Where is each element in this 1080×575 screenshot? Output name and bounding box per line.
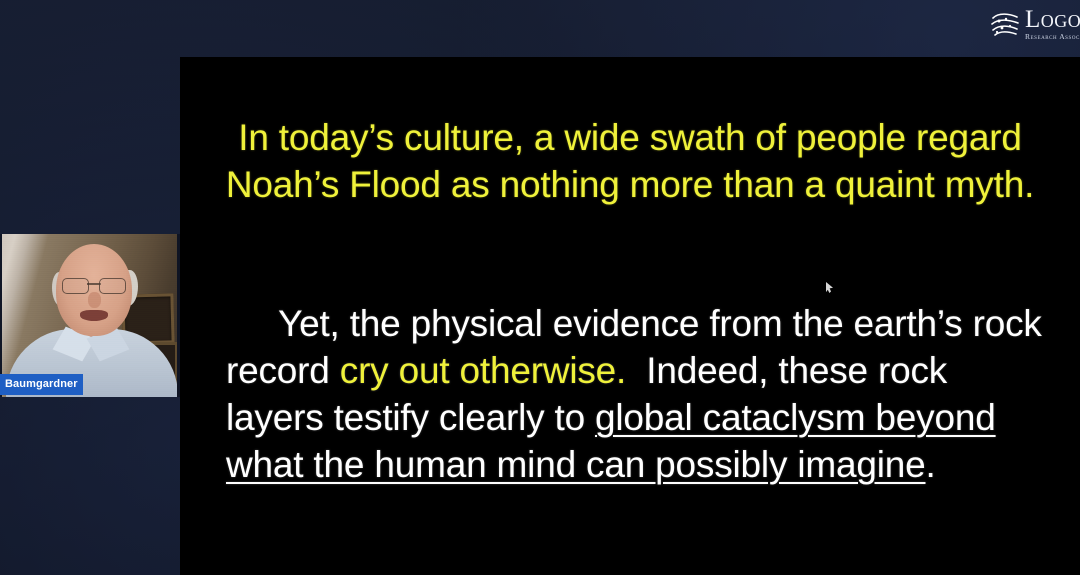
- text-run-underlined: what the human mind can possibly imagine: [226, 444, 926, 485]
- text-run-underlined: global cataclysm beyond: [595, 397, 996, 438]
- brand-logo: Logos Research Associates: [990, 4, 1080, 44]
- eyeglass-lens-right: [99, 278, 126, 294]
- slide-content: In today’s culture, a wide swath of peop…: [180, 57, 1080, 575]
- swirl-emblem-icon: [990, 9, 1020, 39]
- text-run-highlight: cry out otherwise.: [340, 350, 626, 391]
- slide-paragraph-body: Yet, the physical evidence from the eart…: [226, 300, 1046, 488]
- mouse-pointer-icon: [826, 282, 833, 293]
- participant-nose: [88, 292, 101, 308]
- participant-name-tag: Baumgardner: [0, 374, 83, 395]
- video-scene: [0, 234, 180, 397]
- slide-body-line: record cry out otherwise. Indeed, these …: [226, 347, 1046, 394]
- brand-wordmark: Logos: [1025, 8, 1080, 32]
- brand-tagline: Research Associates: [1025, 32, 1080, 41]
- shared-slide[interactable]: In today’s culture, a wide swath of peop…: [180, 57, 1080, 575]
- text-run: .: [926, 444, 936, 485]
- slide-body-line: Yet, the physical evidence from the eart…: [226, 300, 1046, 347]
- brand-lockup: Logos Research Associates: [1025, 7, 1080, 41]
- eyeglasses-icon: [62, 278, 126, 293]
- slide-body-line: layers testify clearly to global catacly…: [226, 394, 1046, 441]
- text-run: layers testify clearly to: [226, 397, 595, 438]
- slide-body-line: what the human mind can possibly imagine…: [226, 441, 1046, 488]
- text-run: Yet, the physical evidence from the eart…: [278, 303, 1042, 344]
- participant-mouth: [80, 310, 108, 321]
- text-run: Indeed, these rock: [626, 350, 947, 391]
- video-conference-stage: Logos Research Associates In today’s cul…: [0, 0, 1080, 575]
- participant-video-tile[interactable]: [0, 234, 180, 397]
- slide-paragraph-headline: In today’s culture, a wide swath of peop…: [180, 114, 1080, 208]
- eyeglass-lens-left: [62, 278, 89, 294]
- text-run: record: [226, 350, 340, 391]
